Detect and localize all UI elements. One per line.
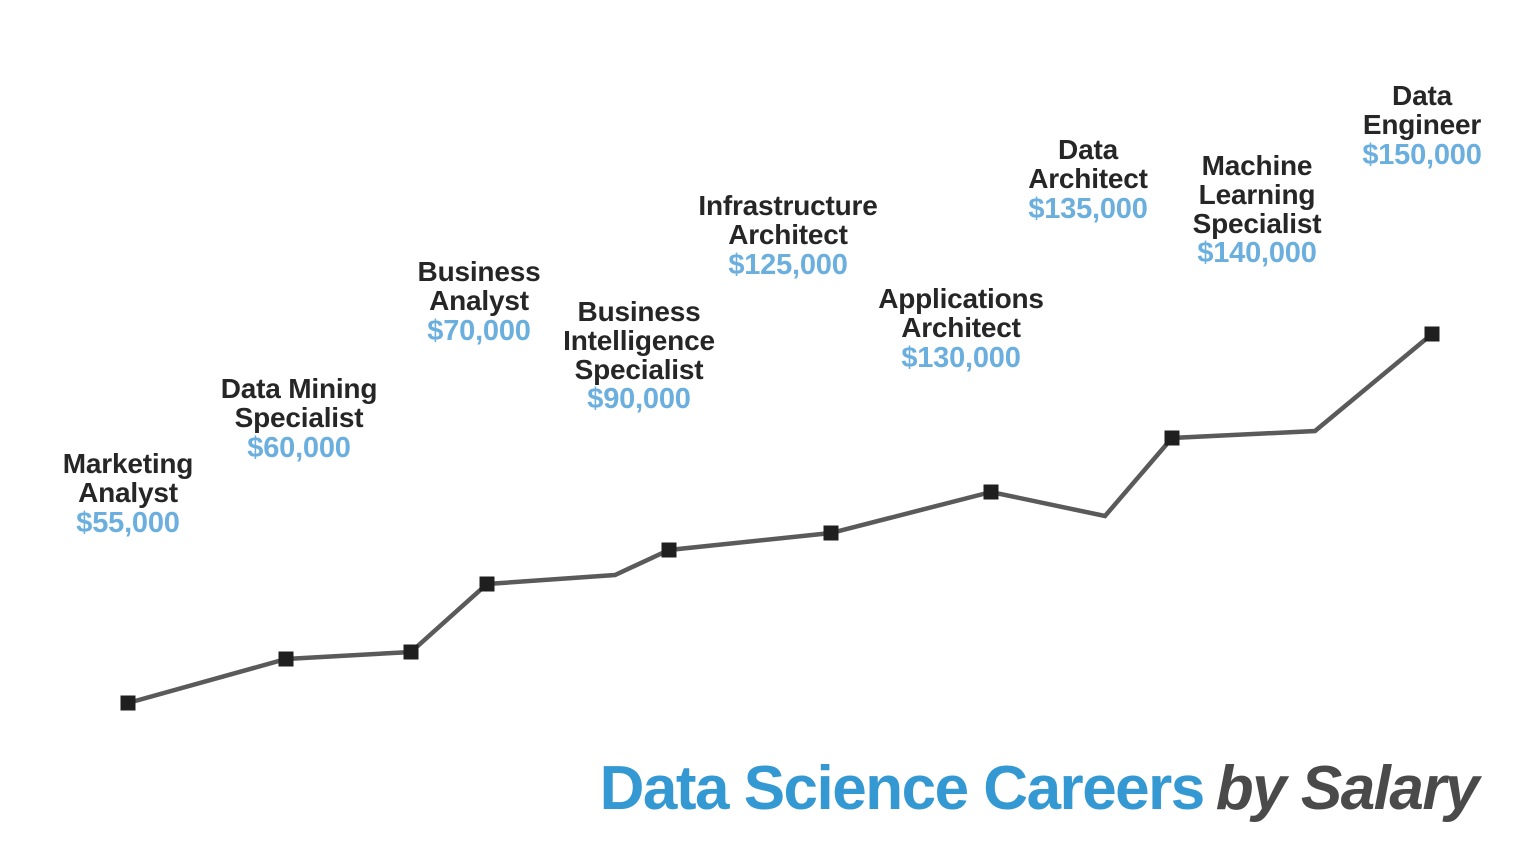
- data-point-marker: [1165, 431, 1180, 446]
- data-point-label: BusinessIntelligenceSpecialist$90,000: [539, 298, 739, 415]
- data-point-label: MachineLearningSpecialist$140,000: [1167, 152, 1347, 269]
- data-point-label: Data MiningSpecialist$60,000: [199, 375, 399, 464]
- data-point-marker: [662, 543, 677, 558]
- data-point-marker: [480, 577, 495, 592]
- data-point-label: InfrastructureArchitect$125,000: [678, 192, 898, 281]
- data-point-salary: $125,000: [678, 251, 898, 281]
- data-point-role-line: Marketing: [43, 450, 213, 479]
- data-point-role-line: Specialist: [1167, 210, 1347, 239]
- chart-canvas: MarketingAnalyst$55,000Data MiningSpecia…: [0, 0, 1536, 864]
- data-point-marker: [984, 485, 999, 500]
- data-point-role-line: Specialist: [199, 404, 399, 433]
- data-point-label: ApplicationsArchitect$130,000: [856, 285, 1066, 374]
- data-point-role-line: Architect: [856, 314, 1066, 343]
- data-point-role-line: Architect: [678, 221, 898, 250]
- data-point-marker: [121, 696, 136, 711]
- data-point-salary: $60,000: [199, 434, 399, 464]
- data-point-role-line: Learning: [1167, 181, 1347, 210]
- chart-title-main: Data Science Careers: [600, 754, 1204, 823]
- data-point-salary: $150,000: [1332, 141, 1512, 171]
- data-point-role-line: Data Mining: [199, 375, 399, 404]
- data-point-label: MarketingAnalyst$55,000: [43, 450, 213, 539]
- data-point-role-line: Analyst: [43, 479, 213, 508]
- data-point-role-line: Data: [1332, 82, 1512, 111]
- data-point-marker: [1425, 327, 1440, 342]
- data-point-role-line: Intelligence: [539, 327, 739, 356]
- data-point-salary: $90,000: [539, 385, 739, 415]
- data-point-role-line: Architect: [1003, 165, 1173, 194]
- chart-title-sub: by Salary: [1216, 754, 1478, 823]
- data-point-role-line: Business: [539, 298, 739, 327]
- data-point-role-line: Machine: [1167, 152, 1347, 181]
- data-point-role-line: Infrastructure: [678, 192, 898, 221]
- data-point-marker: [404, 645, 419, 660]
- data-point-role-line: Specialist: [539, 356, 739, 385]
- data-point-role-line: Business: [389, 258, 569, 287]
- chart-title: Data Science Careersby Salary: [600, 753, 1478, 824]
- data-point-salary: $140,000: [1167, 239, 1347, 269]
- data-point-label: DataEngineer$150,000: [1332, 82, 1512, 171]
- data-point-label: DataArchitect$135,000: [1003, 136, 1173, 225]
- data-point-salary: $55,000: [43, 509, 213, 539]
- data-point-role-line: Data: [1003, 136, 1173, 165]
- data-point-marker: [279, 652, 294, 667]
- data-point-role-line: Applications: [856, 285, 1066, 314]
- data-point-salary: $135,000: [1003, 195, 1173, 225]
- data-point-salary: $130,000: [856, 344, 1066, 374]
- data-point-marker: [824, 526, 839, 541]
- data-point-role-line: Engineer: [1332, 111, 1512, 140]
